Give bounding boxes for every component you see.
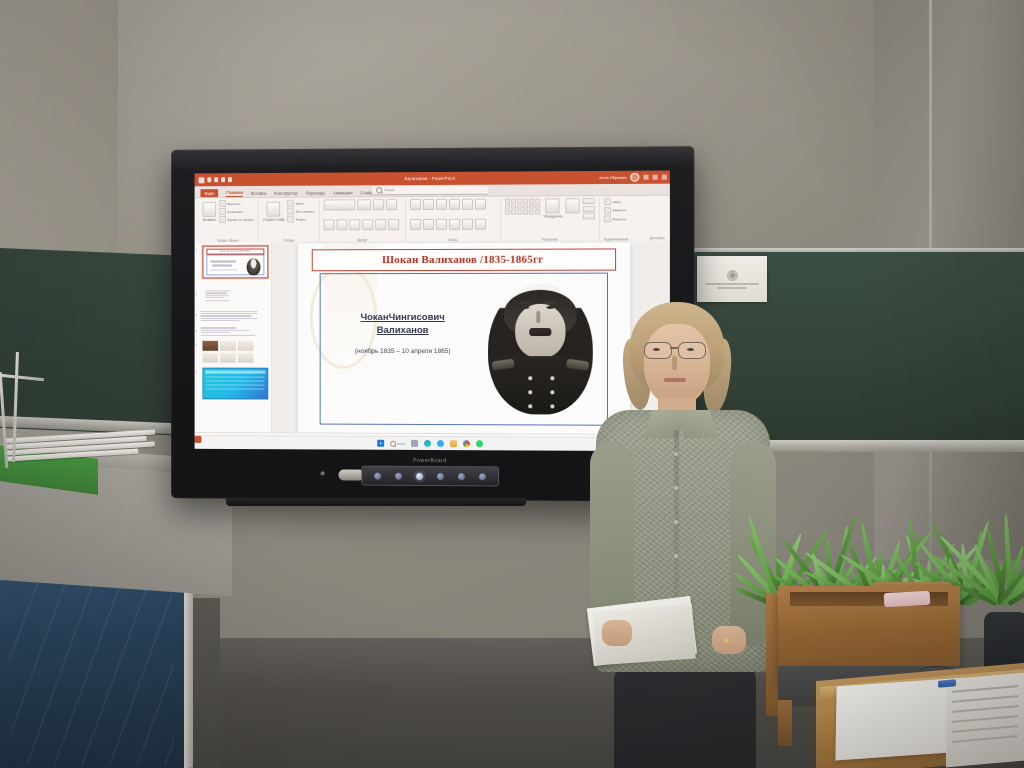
replace-label: Заменить: [613, 208, 627, 212]
format-painter-button[interactable]: Формат по образцу: [219, 216, 254, 223]
columns-icon[interactable]: [462, 218, 473, 229]
thumbnail-image: [202, 341, 218, 351]
display-bottom-rail: [226, 498, 526, 506]
thumbnail-bullets: [205, 290, 268, 301]
thumbnail-portrait: [247, 258, 261, 275]
tab-insert[interactable]: Вставка: [251, 190, 266, 197]
thumbnail-text-line: [206, 380, 264, 381]
portrait-button: [528, 376, 532, 380]
portrait-brow: [519, 302, 530, 304]
tab-transitions[interactable]: Переходы: [306, 190, 325, 197]
paste-label: Вставить: [203, 217, 216, 221]
powerpoint-icon[interactable]: [195, 436, 202, 443]
telegram-icon[interactable]: [437, 440, 444, 447]
blouse-button: [674, 486, 678, 490]
avatar[interactable]: [630, 173, 639, 182]
arrange-icon: [546, 198, 560, 213]
portrait-button: [550, 390, 554, 394]
align-left-icon[interactable]: [410, 219, 421, 230]
presenter-trousers: [614, 662, 756, 768]
shape-oval-icon[interactable]: [523, 199, 528, 204]
shape-line-icon[interactable]: [505, 199, 510, 204]
arrange-label: Упорядочить: [543, 214, 562, 218]
ribbon-group-slides: Создать слайд Макет Восстановить Раздел …: [259, 200, 320, 244]
section-icon: [287, 216, 294, 223]
format-painter-label: Формат по образцу: [227, 217, 253, 221]
replace-button[interactable]: Заменить: [604, 207, 629, 214]
find-icon: [604, 198, 611, 205]
shape-pentagon-icon[interactable]: [517, 204, 522, 209]
thumbnail-text-line: [206, 384, 264, 385]
volume-up-icon[interactable]: [458, 473, 465, 480]
portrait-button: [550, 376, 554, 380]
glasses-bridge: [670, 347, 678, 349]
thumbnail-number: 2: [196, 292, 198, 296]
taskbar-search[interactable]: Поиск: [390, 440, 406, 446]
start-icon[interactable]: [377, 440, 384, 447]
thumbnail-text-block: [200, 327, 268, 335]
copy-icon: [219, 208, 226, 215]
blue-wall-panel: [0, 568, 190, 768]
new-slide-label: Создать слайд: [263, 217, 285, 221]
decrease-indent-icon[interactable]: [436, 199, 447, 210]
blouse-button: [674, 452, 678, 456]
close-button[interactable]: [662, 175, 667, 180]
shape-arrow-icon[interactable]: [511, 199, 516, 204]
home-button-icon[interactable]: [479, 473, 486, 480]
font-color-icon[interactable]: [388, 219, 399, 230]
quick-styles-icon: [565, 198, 579, 213]
thumbnail-slide-5[interactable]: 5: [198, 341, 269, 363]
slide-subject-dates: (ноябрь 1835 – 10 апреля 1865): [328, 348, 477, 355]
notice-text-line: [717, 287, 747, 289]
source-button-icon[interactable]: [395, 472, 402, 479]
align-right-icon[interactable]: [436, 218, 447, 229]
slide-subject-name: ЧоканЧингисович Валиханов: [328, 312, 477, 338]
convert-smartart-icon[interactable]: [475, 218, 486, 229]
thumbnail-slide-1[interactable]: 1 Шокан Валиханов /1835-1865гг: [198, 246, 269, 279]
shape-banner-icon[interactable]: [517, 210, 522, 215]
dictate-button[interactable]: Диктовать: [650, 236, 665, 240]
thumbnail-image: [238, 352, 254, 362]
current-slide[interactable]: Шокан Валиханов /1835-1865гг ЧоканЧингис…: [297, 242, 629, 434]
portrait-eye: [546, 306, 554, 309]
thumbnail-text-block: [200, 311, 268, 322]
shape-triangle-icon[interactable]: [529, 198, 534, 203]
thumbnail-number: 3: [196, 313, 198, 317]
tab-animations[interactable]: Анимация: [333, 190, 353, 197]
slide-title-placeholder[interactable]: Шокан Валиханов /1835-1865гг: [311, 248, 615, 271]
whatsapp-icon[interactable]: [476, 440, 483, 447]
chalkboard-left: [0, 248, 196, 436]
search-placeholder: Поиск: [384, 188, 394, 192]
ribbon-group-font: Шрифт: [320, 199, 406, 243]
reset-icon: [287, 208, 294, 215]
copy-label: Копировать: [227, 209, 243, 213]
search-box[interactable]: Поиск: [372, 186, 488, 196]
cable: [918, 666, 954, 679]
quick-access-toolbar[interactable]: [195, 177, 232, 183]
restore-button[interactable]: [653, 175, 658, 180]
shape-diamond-icon[interactable]: [535, 198, 540, 203]
ribbon[interactable]: Вставить Вырезать Копировать Формат по о…: [195, 196, 670, 245]
select-button[interactable]: Выделить: [604, 215, 629, 222]
customize-qat-icon[interactable]: [228, 177, 232, 182]
bold-icon[interactable]: [324, 219, 335, 230]
thumbnail-image: [238, 341, 254, 351]
shape-effects-icon[interactable]: [583, 213, 595, 219]
display-control-panel[interactable]: [361, 466, 499, 487]
planter-foot-left: [778, 700, 792, 746]
increase-indent-icon[interactable]: [449, 199, 460, 210]
thumbnail-cyan-slide[interactable]: [202, 367, 268, 399]
slide-body-placeholder[interactable]: ЧоканЧингисович Валиханов (ноябрь 1835 –…: [319, 273, 607, 426]
thumbnail-number: 5: [196, 343, 198, 347]
thumbnail-text-line: [206, 388, 264, 389]
thumbnail-number: 1: [196, 248, 198, 252]
volume-down-icon[interactable]: [437, 473, 444, 480]
ribbon-group-drawing: Упорядочить Рисование: [501, 198, 600, 243]
new-slide-button[interactable]: Создать слайд: [263, 201, 285, 221]
board-notice-sheet: [697, 256, 767, 302]
presenter-mouth: [664, 378, 686, 382]
shape-callout-icon[interactable]: [535, 204, 540, 209]
reset-button[interactable]: Восстановить: [287, 208, 314, 215]
user-name[interactable]: Алия Ибраева: [599, 175, 626, 180]
increase-font-icon[interactable]: [373, 199, 384, 210]
layout-icon: [287, 200, 294, 207]
portrait-button: [550, 404, 554, 408]
portrait-button: [528, 404, 532, 408]
shape-plus-icon[interactable]: [529, 210, 534, 215]
font-family-select[interactable]: [324, 199, 356, 210]
section-button[interactable]: Раздел: [287, 216, 314, 223]
thumbnail-slide-6[interactable]: 6: [198, 367, 269, 399]
search-icon: [376, 187, 382, 193]
thumbnail-slide-3[interactable]: 3: [198, 311, 269, 322]
desk-open-folder: [946, 673, 1024, 768]
shape-flow-icon[interactable]: [523, 210, 528, 215]
tab-file[interactable]: Файл: [200, 189, 218, 198]
undo-icon[interactable]: [207, 177, 211, 182]
thumbnail-image: [220, 341, 236, 351]
presenter: [588, 302, 778, 768]
numbering-icon[interactable]: [423, 199, 434, 210]
shape-bracket-icon[interactable]: [505, 210, 510, 215]
ribbon-group-clipboard: Вставить Вырезать Копировать Формат по о…: [199, 200, 259, 244]
slide-subject-name-line1: ЧоканЧингисович: [361, 312, 445, 323]
select-label: Выделить: [613, 217, 627, 221]
shape-freeform-icon[interactable]: [511, 204, 516, 209]
shape-chevron-icon[interactable]: [523, 204, 528, 209]
replace-icon: [604, 207, 611, 214]
format-painter-icon: [219, 216, 226, 223]
underline-icon[interactable]: [349, 219, 360, 230]
bullets-icon[interactable]: [410, 199, 421, 210]
thumbnail-body: [206, 254, 264, 275]
thumbnail-card[interactable]: Шокан Валиханов /1835-1865гг: [202, 246, 268, 279]
shape-outline-icon[interactable]: [583, 206, 595, 212]
shape-more-icon[interactable]: [535, 209, 540, 214]
minimize-button[interactable]: [643, 175, 648, 180]
thumbnail-images: [202, 341, 268, 351]
cut-label: Вырезать: [227, 201, 240, 205]
find-label: Найти: [613, 200, 622, 204]
presenter-eye: [653, 348, 660, 351]
thumbnail-image: [202, 352, 218, 362]
justify-icon[interactable]: [449, 218, 460, 229]
font-size-select[interactable]: [357, 199, 371, 210]
presenter-hand-left: [602, 620, 632, 646]
portrait-nose: [536, 311, 540, 323]
presenter-hand-right: [712, 626, 746, 654]
ribbon-group-paragraph: Абзац: [406, 199, 501, 243]
bezel-highlight: [171, 146, 694, 171]
autosave-icon[interactable]: [199, 177, 205, 183]
portrait-brow: [544, 302, 555, 304]
layout-label: Макет: [296, 201, 304, 205]
thumbnail-title-bar: [205, 370, 265, 373]
folder-icon[interactable]: [450, 440, 457, 447]
thumbnail-slide-2[interactable]: 2: [198, 290, 269, 301]
slide-thumbnail-pane[interactable]: 1 Шокан Валиханов /1835-1865гг: [195, 243, 273, 434]
layout-button[interactable]: Макет: [287, 200, 314, 207]
section-label: Раздел: [296, 217, 306, 221]
portrait-moustache: [529, 328, 551, 336]
shadow-icon[interactable]: [362, 219, 373, 230]
classroom-scene: Валиханов - PowerPoint Алия Ибраева Файл…: [0, 0, 1024, 768]
tab-home[interactable]: Главная: [226, 190, 243, 198]
shape-brace-icon[interactable]: [511, 210, 516, 215]
paste-button[interactable]: Вставить: [202, 202, 216, 222]
document-title: Валиханов - PowerPoint: [405, 176, 456, 181]
thumbnail-text-line: [206, 376, 264, 377]
reset-label: Восстановить: [296, 209, 315, 213]
ribbon-group-editing: Найти Заменить Выделить Редактирование: [600, 198, 633, 242]
quick-styles-button[interactable]: [565, 198, 579, 213]
slide-subject-name-line2: Валиханов: [377, 325, 429, 336]
decrease-font-icon[interactable]: [386, 199, 397, 210]
slide-title-text: Шокан Валиханов /1835-1865гг: [382, 254, 543, 266]
line-spacing-icon[interactable]: [462, 199, 473, 210]
search-icon: [390, 440, 396, 446]
thumbnail-number: 6: [196, 369, 198, 373]
presenter-eye: [687, 348, 694, 351]
copy-button[interactable]: Копировать: [219, 208, 254, 215]
pink-cloth: [884, 591, 931, 607]
select-icon: [604, 215, 611, 222]
strikethrough-icon[interactable]: [375, 219, 386, 230]
tab-design[interactable]: Конструктор: [274, 190, 298, 197]
thumbnail-text-line: [210, 269, 237, 270]
save-icon[interactable]: [221, 177, 225, 182]
thumbnail-slide-4[interactable]: 4: [198, 327, 269, 335]
thumbnail-images: [202, 352, 268, 362]
redo-icon[interactable]: [214, 177, 218, 182]
thumbnail-image: [220, 352, 236, 362]
thumbnail-text-line: [212, 264, 232, 266]
shapes-gallery[interactable]: [505, 198, 540, 214]
chrome-icon[interactable]: [463, 440, 470, 447]
new-slide-icon: [267, 201, 281, 216]
portrait-eye: [521, 306, 529, 309]
shape-curve-icon[interactable]: [505, 204, 510, 209]
find-button[interactable]: Найти: [604, 198, 629, 205]
ring: [724, 638, 729, 643]
power-button-icon[interactable]: [374, 472, 381, 479]
portrait-button: [528, 390, 532, 394]
edge-icon[interactable]: [424, 440, 431, 447]
align-center-icon[interactable]: [423, 218, 434, 229]
shape-fill-icon[interactable]: [583, 198, 595, 204]
italic-icon[interactable]: [336, 219, 347, 230]
menu-button-icon[interactable]: [416, 472, 423, 479]
cut-icon: [219, 200, 226, 207]
presenter-nose: [672, 356, 677, 370]
blouse-button: [674, 520, 678, 524]
display-brand-label: PowerBoard: [413, 458, 446, 464]
emblem-icon: [727, 270, 738, 281]
title-bar-right[interactable]: Алия Ибраева: [599, 173, 667, 182]
text-direction-icon[interactable]: [475, 199, 486, 210]
task-view-icon[interactable]: [411, 440, 418, 447]
thumbnail-text-line: [210, 260, 236, 262]
paste-icon: [202, 202, 216, 217]
thumbnail-number: 4: [196, 329, 198, 333]
power-led-icon: [321, 471, 325, 475]
shape-star-icon[interactable]: [529, 204, 534, 209]
arrange-button[interactable]: Упорядочить: [543, 198, 562, 218]
cut-button[interactable]: Вырезать: [219, 200, 254, 207]
thumbnail-title-text: Шокан Валиханов /1835-1865гг: [220, 251, 251, 253]
slide-portrait-image[interactable]: [488, 284, 593, 415]
notice-text-line: [705, 283, 759, 285]
presenter-face: [644, 324, 710, 406]
shape-rect-icon[interactable]: [517, 199, 522, 204]
blouse-button: [674, 554, 678, 558]
taskbar-search-placeholder: Поиск: [397, 441, 405, 445]
